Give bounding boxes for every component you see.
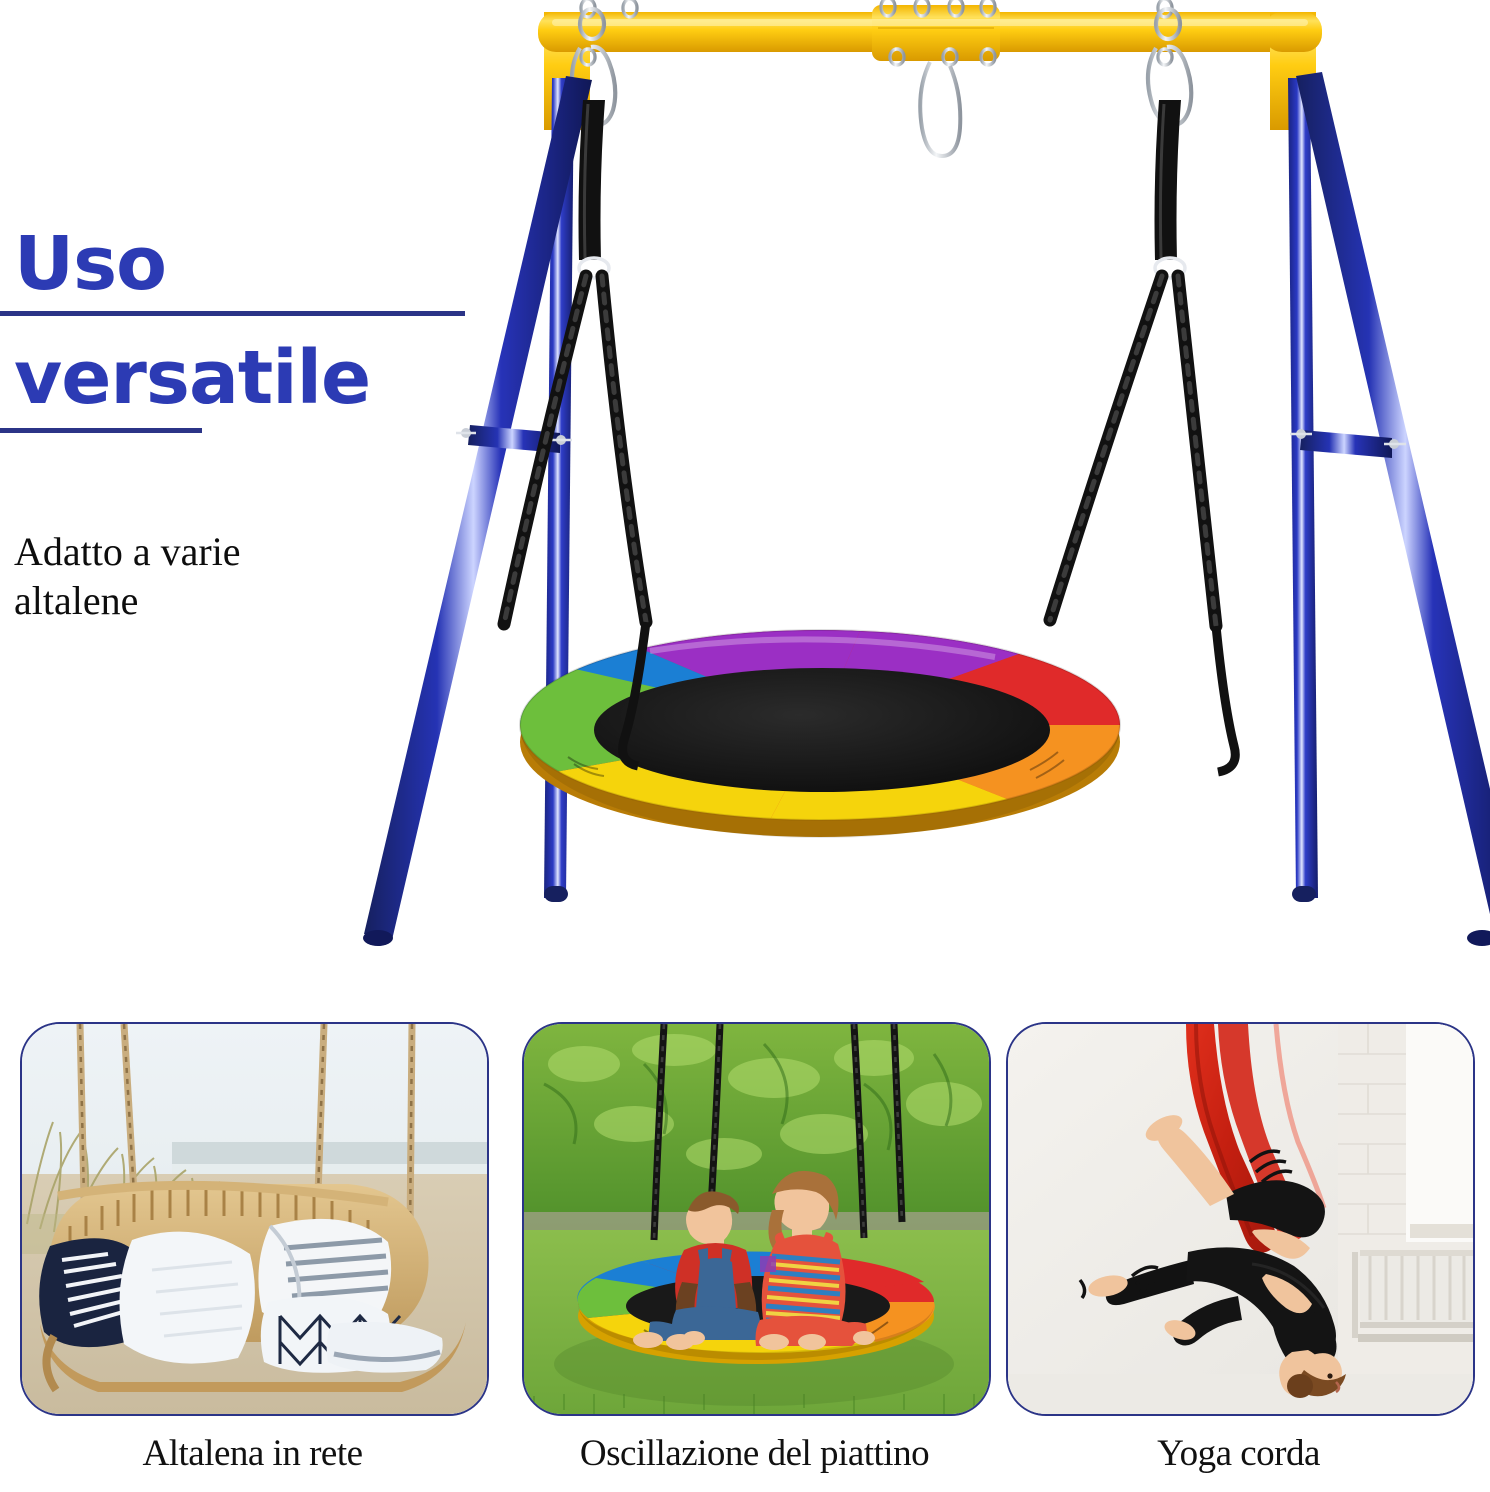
right-a-frame bbox=[1288, 72, 1490, 946]
top-beam-group bbox=[538, 5, 1322, 130]
caption-card-3: Yoga corda bbox=[1006, 1432, 1471, 1475]
headline-rule-bottom bbox=[0, 428, 202, 433]
card-yoga-rope[interactable] bbox=[1006, 1022, 1475, 1416]
caption-card-2: Oscillazione del piattino bbox=[522, 1432, 987, 1475]
saucer-seat bbox=[518, 622, 1235, 838]
left-a-frame bbox=[363, 76, 592, 946]
card-saucer-swing[interactable] bbox=[522, 1022, 991, 1416]
hero-product-image bbox=[330, 0, 1490, 990]
swing-strap-left bbox=[579, 100, 610, 278]
headline-subtitle: Adatto a varie altalene bbox=[14, 528, 344, 626]
swing-strap-right bbox=[1155, 100, 1186, 278]
pillow-white bbox=[120, 1232, 255, 1364]
swing-ropes-right bbox=[1050, 276, 1216, 626]
card-hanging-net-swing[interactable] bbox=[20, 1022, 489, 1416]
carabiner-center bbox=[920, 62, 960, 156]
caption-card-1: Altalena in rete bbox=[20, 1432, 485, 1475]
